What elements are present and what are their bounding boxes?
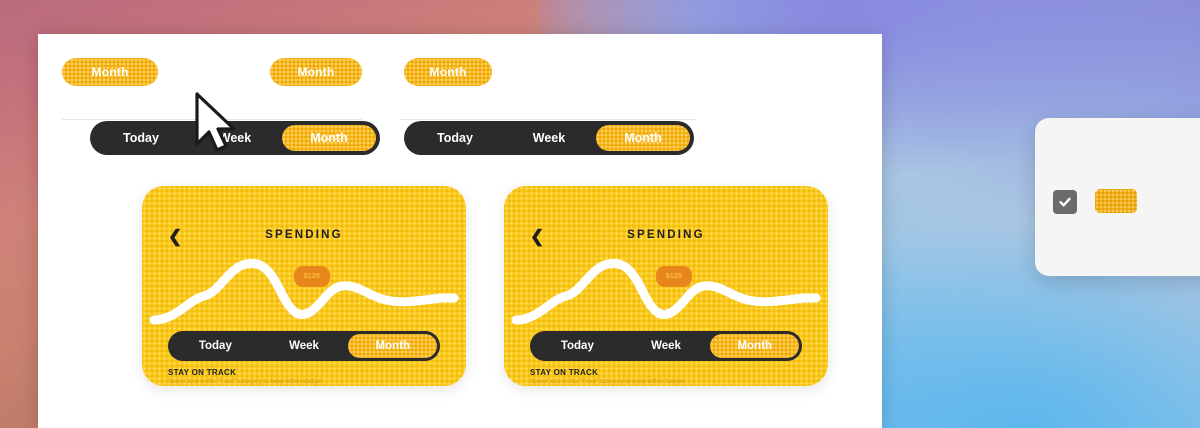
card-2-toggle-week-label: Week — [651, 340, 681, 352]
secondary-toggle-segment-month[interactable]: Month — [596, 125, 690, 151]
primary-period-toggle[interactable]: Today Week Month — [90, 121, 380, 155]
secondary-toggle-week-label: Week — [533, 131, 565, 145]
month-pill-1-label: Month — [92, 65, 129, 79]
card-1-footer-subtitle: Spend less in the "Food" category to kee… — [168, 379, 322, 385]
card-2-toggle-segment-month[interactable]: Month — [710, 334, 799, 358]
spending-chart-2 — [504, 246, 828, 332]
card-2-toggle-today-label: Today — [561, 340, 594, 352]
spending-card-2-period-toggle[interactable]: Today Week Month — [530, 331, 802, 361]
card-2-toggle-month-label: Month — [737, 340, 771, 352]
spending-card-1-title: SPENDING — [142, 229, 466, 241]
top-pill-row: Month Month Month — [38, 58, 882, 88]
spending-chart-2-value-badge: $125 — [656, 266, 692, 287]
divider-left — [62, 119, 362, 120]
month-pill-3[interactable]: Month — [404, 58, 492, 86]
card-2-footer-title: STAY ON TRACK — [530, 368, 684, 377]
desktop-screen: Month Month Month Today Week Month — [0, 0, 1200, 428]
primary-toggle-segment-today[interactable]: Today — [94, 125, 188, 151]
card-2-footer-subtitle: Spend less in the "Food" category to kee… — [530, 379, 684, 385]
primary-toggle-segment-week[interactable]: Week — [188, 125, 282, 151]
spending-card-2: ❮ SPENDING $125 Today Week Month — [504, 186, 828, 386]
month-pill-2-label: Month — [298, 65, 335, 79]
spending-card-2-title: SPENDING — [504, 229, 828, 241]
primary-toggle-week-label: Week — [219, 131, 251, 145]
card-2-toggle-segment-today[interactable]: Today — [533, 334, 622, 358]
spending-chart-1 — [142, 246, 466, 332]
primary-toggle-segment-month[interactable]: Month — [282, 125, 376, 151]
card-1-toggle-segment-today[interactable]: Today — [171, 334, 260, 358]
app-panel: Month Month Month Today Week Month — [38, 34, 882, 428]
checkbox-checked[interactable] — [1053, 190, 1077, 214]
card-1-toggle-segment-week[interactable]: Week — [260, 334, 349, 358]
card-1-toggle-segment-month[interactable]: Month — [348, 334, 437, 358]
divider-right — [400, 119, 696, 120]
secondary-period-toggle[interactable]: Today Week Month — [404, 121, 694, 155]
month-pill-2[interactable]: Month — [270, 58, 362, 86]
spending-card-1-period-toggle[interactable]: Today Week Month — [168, 331, 440, 361]
spending-card-1: ❮ SPENDING $125 Today Week Month — [142, 186, 466, 386]
card-1-footer-title: STAY ON TRACK — [168, 368, 322, 377]
color-swatch-orange[interactable] — [1095, 189, 1137, 213]
spending-chart-1-value-badge: $125 — [294, 266, 330, 287]
secondary-toggle-month-label: Month — [624, 131, 661, 145]
secondary-toggle-segment-today[interactable]: Today — [408, 125, 502, 151]
primary-toggle-today-label: Today — [123, 131, 159, 145]
card-1-toggle-week-label: Week — [289, 340, 319, 352]
card-1-toggle-today-label: Today — [199, 340, 232, 352]
spending-card-2-footer: STAY ON TRACK Spend less in the "Food" c… — [530, 368, 684, 385]
card-2-toggle-segment-week[interactable]: Week — [622, 334, 711, 358]
primary-toggle-month-label: Month — [310, 131, 347, 145]
card-1-toggle-month-label: Month — [375, 340, 409, 352]
spending-card-1-footer: STAY ON TRACK Spend less in the "Food" c… — [168, 368, 322, 385]
month-pill-3-label: Month — [430, 65, 467, 79]
secondary-toggle-today-label: Today — [437, 131, 473, 145]
floating-settings-card — [1035, 118, 1200, 276]
month-pill-1[interactable]: Month — [62, 58, 158, 86]
secondary-toggle-segment-week[interactable]: Week — [502, 125, 596, 151]
